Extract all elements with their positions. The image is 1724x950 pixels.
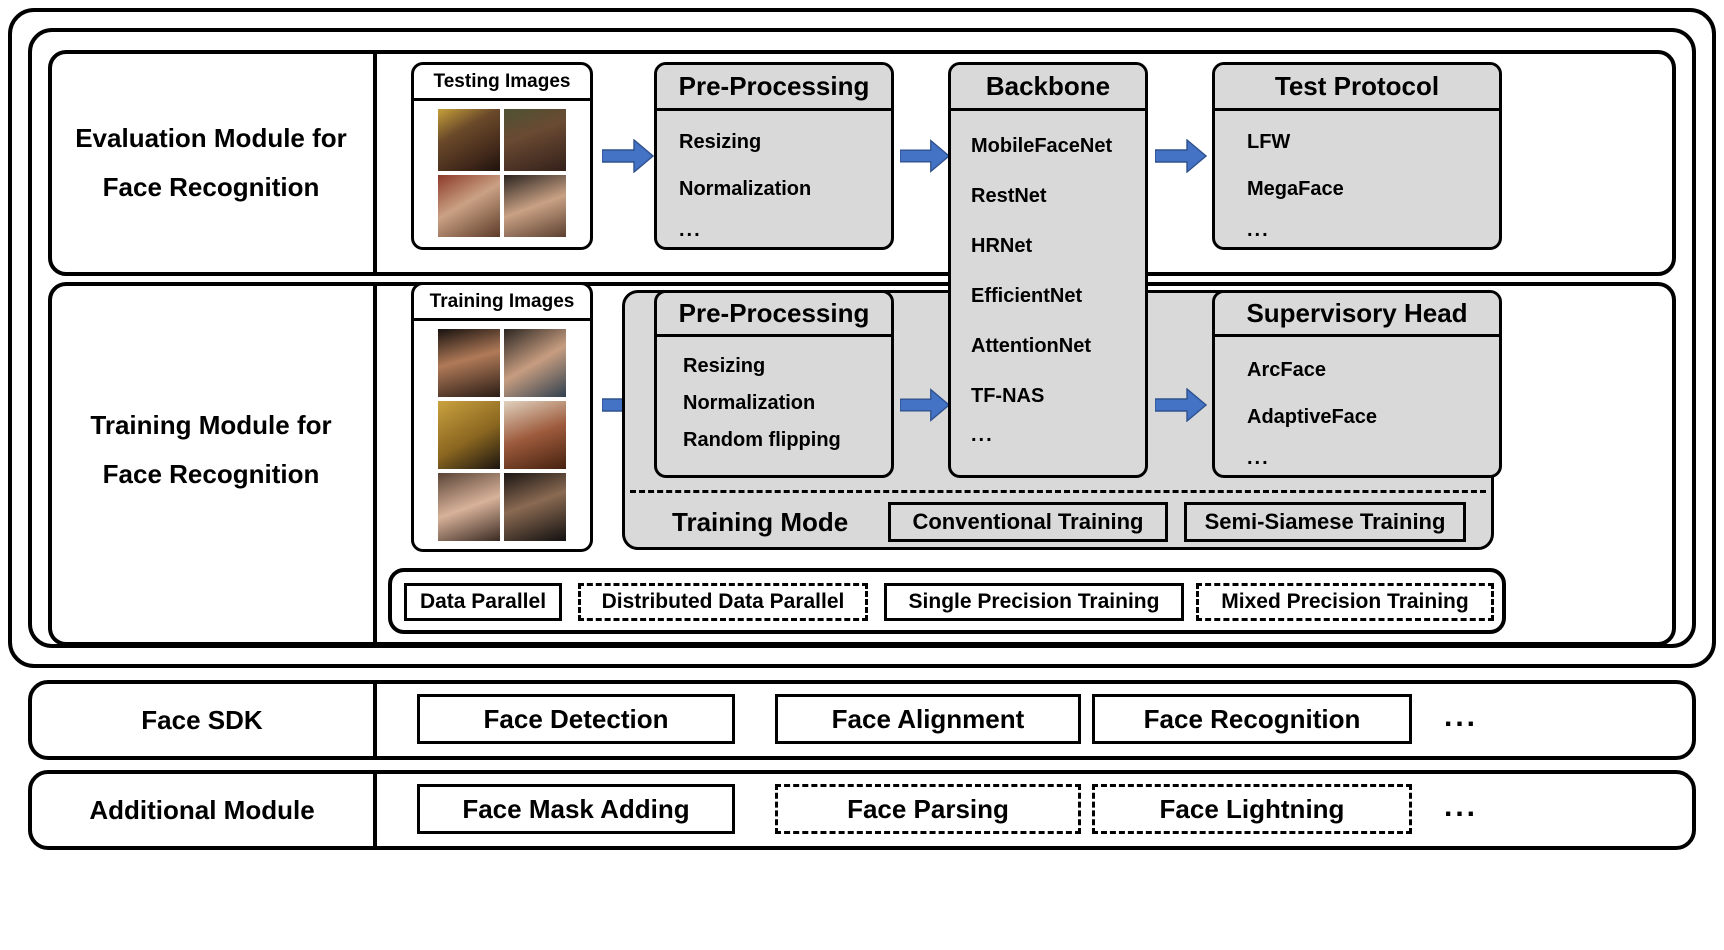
- face-sdk-label: Face SDK: [32, 684, 372, 756]
- face-sdk-item-label: Face Alignment: [832, 704, 1025, 735]
- backbone-items: MobileFaceNet RestNet HRNet EfficientNet…: [951, 111, 1145, 447]
- training-mode-label: Training Mode: [672, 498, 892, 546]
- training-mode-separator: [630, 490, 1486, 493]
- list-item: ...: [1247, 219, 1499, 242]
- supervisory-head-card: Supervisory Head ArcFace AdaptiveFace ..…: [1212, 290, 1502, 478]
- additional-module-item-face-parsing[interactable]: Face Parsing: [775, 784, 1081, 834]
- additional-module-ellipsis: ...: [1444, 790, 1478, 824]
- list-item: RestNet: [971, 185, 1145, 208]
- list-item: AdaptiveFace: [1247, 406, 1499, 429]
- eval-preprocessing-items: Resizing Normalization ...: [657, 111, 891, 242]
- training-preprocessing-card: Pre-Processing Resizing Normalization Ra…: [654, 290, 894, 478]
- list-item: Resizing: [683, 355, 891, 378]
- face-thumbnail: [438, 175, 500, 237]
- training-images-grid: [414, 321, 590, 541]
- training-images-panel: Training Images: [411, 282, 593, 552]
- training-preprocessing-items: Resizing Normalization Random flipping .…: [657, 337, 891, 478]
- arrow-preprocessing-to-backbone: [900, 139, 950, 173]
- option-label: Mixed Precision Training: [1221, 590, 1468, 614]
- test-protocol-card: Test Protocol LFW MegaFace ...: [1212, 62, 1502, 250]
- additional-module-label-divider: [373, 774, 377, 846]
- additional-module-item-label: Face Mask Adding: [462, 794, 689, 825]
- additional-module-label: Additional Module: [32, 774, 372, 846]
- list-item: ArcFace: [1247, 359, 1499, 382]
- training-module-label: Training Module for Face Recognition: [52, 300, 370, 600]
- face-thumbnail: [504, 109, 566, 171]
- testing-images-title: Testing Images: [414, 65, 590, 101]
- list-item: MegaFace: [1247, 178, 1499, 201]
- option-label: Distributed Data Parallel: [602, 590, 845, 614]
- list-item: MobileFaceNet: [971, 135, 1145, 158]
- face-sdk-ellipsis: ...: [1444, 700, 1478, 734]
- testing-images-grid: [414, 101, 590, 237]
- additional-module-item-face-lightning[interactable]: Face Lightning: [1092, 784, 1412, 834]
- option-distributed-data-parallel[interactable]: Distributed Data Parallel: [578, 583, 868, 621]
- list-item: ...: [971, 424, 1145, 447]
- training-mode-option-label: Semi-Siamese Training: [1205, 509, 1446, 535]
- face-thumbnail: [438, 329, 500, 397]
- list-item: AttentionNet: [971, 335, 1145, 358]
- list-item: ...: [679, 219, 891, 242]
- eval-preprocessing-card: Pre-Processing Resizing Normalization ..…: [654, 62, 894, 250]
- evaluation-label-divider: [373, 54, 377, 272]
- list-item: Random flipping: [683, 429, 891, 452]
- additional-module-item-face-mask-adding[interactable]: Face Mask Adding: [417, 784, 735, 834]
- face-thumbnail: [438, 401, 500, 469]
- backbone-title: Backbone: [951, 65, 1145, 111]
- face-sdk-item-face-recognition[interactable]: Face Recognition: [1092, 694, 1412, 744]
- face-thumbnail: [504, 401, 566, 469]
- arrow-backbone-to-supervisory-head: [1155, 388, 1207, 422]
- evaluation-label-line2: Face Recognition: [103, 163, 320, 212]
- list-item: ...: [683, 462, 891, 478]
- evaluation-label-line1: Evaluation Module for: [75, 114, 347, 163]
- face-thumbnail: [438, 109, 500, 171]
- list-item: Normalization: [683, 392, 891, 415]
- evaluation-module-label: Evaluation Module for Face Recognition: [52, 54, 370, 272]
- option-mixed-precision-training[interactable]: Mixed Precision Training: [1196, 583, 1494, 621]
- testing-images-panel: Testing Images: [411, 62, 593, 250]
- face-thumbnail: [504, 329, 566, 397]
- list-item: Normalization: [679, 178, 891, 201]
- training-mode-option-conventional[interactable]: Conventional Training: [888, 502, 1168, 542]
- supervisory-head-title: Supervisory Head: [1215, 293, 1499, 337]
- list-item: HRNet: [971, 235, 1145, 258]
- list-item: EfficientNet: [971, 285, 1145, 308]
- training-mode-option-label: Conventional Training: [912, 509, 1143, 535]
- additional-module-item-label: Face Parsing: [847, 794, 1009, 825]
- additional-module-item-label: Face Lightning: [1160, 794, 1345, 825]
- supervisory-head-items: ArcFace AdaptiveFace ...: [1215, 337, 1499, 470]
- face-sdk-label-divider: [373, 684, 377, 756]
- training-images-title: Training Images: [414, 285, 590, 321]
- list-item: Resizing: [679, 131, 891, 154]
- test-protocol-title: Test Protocol: [1215, 65, 1499, 111]
- test-protocol-items: LFW MegaFace ...: [1215, 111, 1499, 242]
- training-mode-option-semi-siamese[interactable]: Semi-Siamese Training: [1184, 502, 1466, 542]
- face-sdk-item-label: Face Recognition: [1144, 704, 1361, 735]
- face-sdk-item-label: Face Detection: [484, 704, 669, 735]
- option-data-parallel[interactable]: Data Parallel: [404, 583, 562, 621]
- backbone-card: Backbone MobileFaceNet RestNet HRNet Eff…: [948, 62, 1148, 478]
- training-preprocessing-title: Pre-Processing: [657, 293, 891, 337]
- face-sdk-item-face-alignment[interactable]: Face Alignment: [775, 694, 1081, 744]
- list-item: LFW: [1247, 131, 1499, 154]
- arrow-training-preprocessing-to-backbone: [900, 388, 950, 422]
- face-thumbnail: [504, 175, 566, 237]
- training-label-divider: [373, 286, 377, 642]
- face-thumbnail: [438, 473, 500, 541]
- arrow-backbone-to-test-protocol: [1155, 139, 1207, 173]
- training-label-line2: Face Recognition: [103, 450, 320, 499]
- training-label-line1: Training Module for: [90, 401, 331, 450]
- face-thumbnail: [504, 473, 566, 541]
- list-item: TF-NAS: [971, 385, 1145, 408]
- arrow-testing-to-preprocessing: [602, 139, 654, 173]
- eval-preprocessing-title: Pre-Processing: [657, 65, 891, 111]
- face-sdk-item-face-detection[interactable]: Face Detection: [417, 694, 735, 744]
- option-label: Data Parallel: [420, 590, 546, 614]
- option-label: Single Precision Training: [909, 590, 1160, 614]
- list-item: ...: [1247, 447, 1499, 470]
- option-single-precision-training[interactable]: Single Precision Training: [884, 583, 1184, 621]
